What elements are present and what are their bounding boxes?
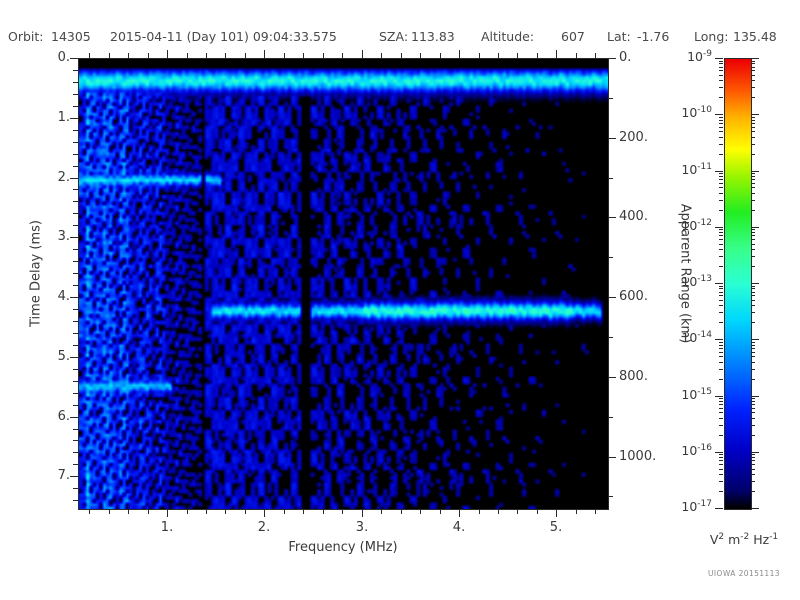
x-minor-tick	[576, 509, 577, 514]
colorbar-minor-tick	[719, 460, 723, 461]
colorbar-minor-tick	[719, 286, 723, 287]
x-minor-tick	[206, 509, 207, 514]
y-minor-tick	[73, 464, 78, 465]
colorbar-minor-tick	[751, 481, 755, 482]
colorbar-minor-tick	[751, 491, 755, 492]
y2-major-tick	[608, 217, 616, 218]
colorbar-minor-tick	[719, 348, 723, 349]
y-tick-label: 2.	[30, 170, 70, 185]
colorbar-minor-tick	[751, 300, 755, 301]
colorbar-minor-tick	[751, 117, 755, 118]
y-minor-tick	[73, 381, 78, 382]
x-major-tick	[459, 509, 460, 517]
colorbar-minor-tick	[751, 345, 755, 346]
colorbar-tick-label: 10-16	[652, 443, 712, 458]
colorbar-minor-tick	[719, 67, 723, 68]
colorbar-minor-tick	[719, 457, 723, 458]
colorbar-minor-tick	[719, 235, 723, 236]
colorbar-minor-tick	[719, 288, 723, 289]
y-minor-tick	[73, 369, 78, 370]
colorbar-major-tick	[751, 58, 759, 59]
colorbar-minor-tick	[719, 491, 723, 492]
x-minor-tick	[323, 509, 324, 514]
y-minor-tick	[73, 440, 78, 441]
colorbar-minor-tick	[719, 379, 723, 380]
colorbar-minor-tick	[719, 295, 723, 296]
x-major-tick	[167, 509, 168, 517]
colorbar-minor-tick	[751, 305, 755, 306]
x-major-tick-top	[459, 50, 460, 58]
colorbar-minor-tick	[751, 144, 755, 145]
colorbar-minor-tick	[719, 144, 723, 145]
colorbar-tick-label: 10-12	[652, 218, 712, 233]
colorbar-minor-tick	[719, 229, 723, 230]
colorbar-tick-label: 10-9	[652, 49, 712, 64]
colorbar-tick-label: 10-10	[652, 105, 712, 120]
colorbar-major-tick	[715, 508, 723, 509]
colorbar-minor-tick	[751, 244, 755, 245]
colorbar-minor-tick	[719, 464, 723, 465]
y-major-tick	[70, 357, 78, 358]
colorbar-minor-tick	[719, 75, 723, 76]
x-minor-tick	[498, 509, 499, 514]
y2-major-tick	[608, 377, 616, 378]
colorbar-minor-tick	[719, 398, 723, 399]
y-major-tick	[70, 297, 78, 298]
colorbar-minor-tick	[751, 200, 755, 201]
colorbar-minor-tick	[751, 210, 755, 211]
y2-minor-tick	[608, 496, 613, 497]
x-minor-tick-top	[576, 53, 577, 58]
colorbar-minor-tick	[751, 408, 755, 409]
x-minor-tick-top	[148, 53, 149, 58]
colorbar-minor-tick	[751, 131, 755, 132]
lat-label: Lat:	[607, 29, 631, 44]
colorbar-minor-tick	[751, 229, 755, 230]
colorbar-minor-tick	[751, 369, 755, 370]
colorbar-minor-tick	[719, 425, 723, 426]
colorbar-minor-tick	[751, 404, 755, 405]
colorbar-major-tick	[715, 339, 723, 340]
x-tick-label: 4.	[439, 520, 479, 535]
colorbar-minor-tick	[751, 435, 755, 436]
colorbar-minor-tick	[719, 97, 723, 98]
colorbar-minor-tick	[751, 187, 755, 188]
x-minor-tick	[109, 509, 110, 514]
x-minor-tick	[479, 509, 480, 514]
x-minor-tick	[595, 509, 596, 514]
colorbar-minor-tick	[751, 379, 755, 380]
colorbar-minor-tick	[751, 469, 755, 470]
colorbar-minor-tick	[719, 173, 723, 174]
colorbar-major-tick	[751, 452, 759, 453]
colorbar	[724, 58, 750, 508]
colorbar-minor-tick	[719, 312, 723, 313]
x-minor-tick	[303, 509, 304, 514]
x-minor-tick-top	[381, 53, 382, 58]
metadata-header: Orbit: 14305 2015-04-11 (Day 101) 09:04:…	[0, 29, 800, 47]
sza-label: SZA:	[379, 29, 408, 44]
colorbar-minor-tick	[719, 266, 723, 267]
x-major-tick	[264, 509, 265, 517]
colorbar-minor-tick	[719, 356, 723, 357]
colorbar-minor-tick	[751, 348, 755, 349]
colorbar-minor-tick	[751, 176, 755, 177]
x-minor-tick	[187, 509, 188, 514]
y2-tick-label: 200.	[619, 130, 673, 145]
colorbar-minor-tick	[751, 123, 755, 124]
ionogram-plot-area	[78, 58, 609, 510]
y2-major-tick	[608, 457, 616, 458]
x-minor-tick	[381, 509, 382, 514]
colorbar-gradient	[724, 58, 752, 510]
y2-major-tick	[608, 138, 616, 139]
colorbar-minor-tick	[719, 292, 723, 293]
x-tick-label: 1.	[147, 520, 187, 535]
colorbar-minor-tick	[719, 481, 723, 482]
x-major-tick-top	[362, 50, 363, 58]
colorbar-minor-tick	[719, 187, 723, 188]
x-major-tick	[362, 509, 363, 517]
x-minor-tick-top	[420, 53, 421, 58]
x-minor-tick-top	[323, 53, 324, 58]
colorbar-minor-tick	[719, 117, 723, 118]
colorbar-minor-tick	[719, 435, 723, 436]
x-minor-tick-top	[342, 53, 343, 58]
colorbar-minor-tick	[719, 249, 723, 250]
y-minor-tick	[73, 106, 78, 107]
x-axis-title: Frequency (MHz)	[0, 540, 686, 555]
colorbar-minor-tick	[719, 369, 723, 370]
colorbar-major-tick	[715, 283, 723, 284]
colorbar-minor-tick	[719, 469, 723, 470]
y-minor-tick	[73, 261, 78, 262]
colorbar-minor-tick	[751, 352, 755, 353]
colorbar-minor-tick	[719, 454, 723, 455]
y-minor-tick	[73, 405, 78, 406]
y-minor-tick	[73, 82, 78, 83]
x-minor-tick-top	[206, 53, 207, 58]
colorbar-minor-tick	[719, 239, 723, 240]
colorbar-minor-tick	[719, 70, 723, 71]
ionogram-page: Orbit: 14305 2015-04-11 (Day 101) 09:04:…	[0, 0, 800, 600]
y-tick-label: 6.	[30, 409, 70, 424]
y-minor-tick	[73, 70, 78, 71]
colorbar-minor-tick	[751, 454, 755, 455]
y-minor-tick	[73, 345, 78, 346]
colorbar-minor-tick	[719, 193, 723, 194]
y-major-tick	[70, 237, 78, 238]
y-minor-tick	[73, 285, 78, 286]
colorbar-minor-tick	[719, 131, 723, 132]
colorbar-minor-tick	[719, 63, 723, 64]
y2-major-tick	[608, 58, 616, 59]
colorbar-unit-label: V2 m-2 Hz-1	[688, 532, 800, 547]
colorbar-minor-tick	[751, 460, 755, 461]
colorbar-minor-tick	[751, 193, 755, 194]
colorbar-major-tick	[751, 396, 759, 397]
x-tick-label: 2.	[244, 520, 284, 535]
colorbar-minor-tick	[719, 183, 723, 184]
long-value: 135.48	[733, 29, 777, 44]
colorbar-minor-tick	[719, 404, 723, 405]
colorbar-minor-tick	[719, 87, 723, 88]
x-minor-tick	[401, 509, 402, 514]
colorbar-minor-tick	[751, 67, 755, 68]
y-minor-tick	[73, 166, 78, 167]
y-minor-tick	[73, 142, 78, 143]
x-tick-label: 5.	[536, 520, 576, 535]
colorbar-minor-tick	[719, 176, 723, 177]
colorbar-major-tick	[715, 171, 723, 172]
colorbar-minor-tick	[719, 322, 723, 323]
x-minor-tick-top	[517, 53, 518, 58]
y-tick-label: 0.	[30, 50, 70, 65]
sza-value: 113.83	[411, 29, 455, 44]
y-minor-tick	[73, 393, 78, 394]
y2-minor-tick	[608, 178, 613, 179]
y-tick-label: 1.	[30, 110, 70, 125]
y-minor-tick	[73, 500, 78, 501]
x-minor-tick-top	[109, 53, 110, 58]
altitude-value: 607	[561, 29, 585, 44]
source-watermark: UIOWA 20151113	[690, 569, 798, 578]
colorbar-minor-tick	[719, 305, 723, 306]
x-minor-tick-top	[440, 53, 441, 58]
y-minor-tick	[73, 189, 78, 190]
colorbar-minor-tick	[751, 75, 755, 76]
x-minor-tick-top	[89, 53, 90, 58]
observation-datetime: 2015-04-11 (Day 101) 09:04:33.575	[110, 29, 337, 44]
y2-minor-tick	[608, 98, 613, 99]
y2-tick-label: 600.	[619, 289, 673, 304]
colorbar-minor-tick	[751, 249, 755, 250]
colorbar-major-tick	[751, 171, 759, 172]
colorbar-major-tick	[715, 58, 723, 59]
colorbar-tick-label: 10-15	[652, 387, 712, 402]
colorbar-minor-tick	[719, 300, 723, 301]
x-minor-tick	[440, 509, 441, 514]
colorbar-minor-tick	[719, 352, 723, 353]
colorbar-minor-tick	[751, 286, 755, 287]
y-minor-tick	[73, 333, 78, 334]
y-minor-tick	[73, 201, 78, 202]
orbit-value: 14305	[51, 29, 91, 44]
x-minor-tick	[420, 509, 421, 514]
orbit-label: Orbit:	[8, 29, 44, 44]
y-minor-tick	[73, 154, 78, 155]
colorbar-major-tick	[715, 452, 723, 453]
colorbar-minor-tick	[751, 401, 755, 402]
colorbar-minor-tick	[719, 232, 723, 233]
colorbar-minor-tick	[751, 356, 755, 357]
x-minor-tick	[342, 509, 343, 514]
colorbar-minor-tick	[719, 345, 723, 346]
colorbar-minor-tick	[719, 474, 723, 475]
lat-value: -1.76	[637, 29, 669, 44]
x-major-tick-top	[264, 50, 265, 58]
colorbar-minor-tick	[751, 127, 755, 128]
colorbar-tick-label: 10-13	[652, 274, 712, 289]
colorbar-minor-tick	[751, 239, 755, 240]
y2-minor-tick	[608, 417, 613, 418]
colorbar-minor-tick	[751, 87, 755, 88]
x-minor-tick-top	[537, 53, 538, 58]
colorbar-minor-tick	[751, 137, 755, 138]
colorbar-major-tick	[715, 114, 723, 115]
colorbar-minor-tick	[719, 342, 723, 343]
spectrogram-heatmap	[79, 59, 608, 509]
colorbar-minor-tick	[751, 235, 755, 236]
colorbar-minor-tick	[719, 362, 723, 363]
x-minor-tick-top	[187, 53, 188, 58]
colorbar-minor-tick	[751, 256, 755, 257]
x-minor-tick-top	[498, 53, 499, 58]
colorbar-minor-tick	[751, 179, 755, 180]
y-minor-tick	[73, 213, 78, 214]
y-minor-tick	[73, 321, 78, 322]
colorbar-minor-tick	[719, 80, 723, 81]
x-minor-tick	[89, 509, 90, 514]
x-minor-tick	[537, 509, 538, 514]
colorbar-minor-tick	[751, 322, 755, 323]
colorbar-minor-tick	[751, 342, 755, 343]
altitude-label: Altitude:	[481, 29, 534, 44]
y-minor-tick	[73, 309, 78, 310]
colorbar-minor-tick	[751, 80, 755, 81]
colorbar-minor-tick	[751, 412, 755, 413]
long-label: Long:	[694, 29, 728, 44]
colorbar-minor-tick	[751, 474, 755, 475]
y-minor-tick	[73, 452, 78, 453]
y-minor-tick	[73, 249, 78, 250]
colorbar-minor-tick	[719, 123, 723, 124]
colorbar-minor-tick	[719, 200, 723, 201]
colorbar-minor-tick	[751, 362, 755, 363]
colorbar-minor-tick	[751, 457, 755, 458]
colorbar-minor-tick	[719, 418, 723, 419]
x-minor-tick-top	[128, 53, 129, 58]
colorbar-minor-tick	[751, 464, 755, 465]
y-major-tick	[70, 118, 78, 119]
y-tick-label: 7.	[30, 468, 70, 483]
y-minor-tick	[73, 488, 78, 489]
x-minor-tick	[245, 509, 246, 514]
colorbar-major-tick	[751, 227, 759, 228]
y2-tick-label: 800.	[619, 369, 673, 384]
colorbar-minor-tick	[751, 425, 755, 426]
colorbar-minor-tick	[719, 120, 723, 121]
colorbar-tick-label: 10-14	[652, 330, 712, 345]
x-major-tick	[556, 509, 557, 517]
y-major-tick	[70, 476, 78, 477]
colorbar-minor-tick	[751, 70, 755, 71]
y-minor-tick	[73, 94, 78, 95]
colorbar-major-tick	[751, 339, 759, 340]
colorbar-minor-tick	[719, 137, 723, 138]
y2-minor-tick	[608, 337, 613, 338]
x-minor-tick	[225, 509, 226, 514]
colorbar-minor-tick	[719, 154, 723, 155]
colorbar-minor-tick	[719, 256, 723, 257]
colorbar-minor-tick	[751, 63, 755, 64]
colorbar-minor-tick	[751, 120, 755, 121]
y-major-tick	[70, 417, 78, 418]
colorbar-minor-tick	[751, 154, 755, 155]
x-tick-label: 3.	[342, 520, 382, 535]
x-minor-tick	[128, 509, 129, 514]
y-axis-left-title: Time Delay (ms)	[29, 194, 44, 354]
y-minor-tick	[73, 429, 78, 430]
x-major-tick-top	[556, 50, 557, 58]
x-minor-tick	[148, 509, 149, 514]
x-minor-tick-top	[225, 53, 226, 58]
colorbar-minor-tick	[719, 244, 723, 245]
colorbar-minor-tick	[719, 408, 723, 409]
colorbar-minor-tick	[719, 412, 723, 413]
colorbar-minor-tick	[751, 173, 755, 174]
colorbar-minor-tick	[751, 183, 755, 184]
colorbar-minor-tick	[719, 179, 723, 180]
colorbar-major-tick	[751, 114, 759, 115]
x-minor-tick-top	[284, 53, 285, 58]
colorbar-major-tick	[715, 227, 723, 228]
x-minor-tick-top	[479, 53, 480, 58]
colorbar-minor-tick	[751, 266, 755, 267]
y-minor-tick	[73, 273, 78, 274]
colorbar-minor-tick	[751, 288, 755, 289]
x-minor-tick	[284, 509, 285, 514]
y-minor-tick	[73, 225, 78, 226]
colorbar-minor-tick	[719, 210, 723, 211]
colorbar-major-tick	[715, 396, 723, 397]
colorbar-tick-label: 10-11	[652, 162, 712, 177]
colorbar-tick-label: 10-17	[652, 499, 712, 514]
x-minor-tick-top	[303, 53, 304, 58]
colorbar-major-tick	[751, 283, 759, 284]
colorbar-minor-tick	[719, 401, 723, 402]
colorbar-minor-tick	[751, 295, 755, 296]
colorbar-minor-tick	[719, 127, 723, 128]
colorbar-minor-tick	[751, 232, 755, 233]
colorbar-minor-tick	[751, 398, 755, 399]
colorbar-minor-tick	[719, 61, 723, 62]
colorbar-minor-tick	[751, 97, 755, 98]
colorbar-minor-tick	[751, 292, 755, 293]
x-major-tick-top	[167, 50, 168, 58]
y-major-tick	[70, 178, 78, 179]
y2-major-tick	[608, 297, 616, 298]
x-minor-tick-top	[595, 53, 596, 58]
colorbar-minor-tick	[751, 312, 755, 313]
y-major-tick	[70, 58, 78, 59]
colorbar-minor-tick	[751, 61, 755, 62]
x-minor-tick-top	[245, 53, 246, 58]
x-minor-tick-top	[401, 53, 402, 58]
y-minor-tick	[73, 130, 78, 131]
y2-minor-tick	[608, 257, 613, 258]
colorbar-major-tick	[751, 508, 759, 509]
colorbar-minor-tick	[751, 418, 755, 419]
x-minor-tick	[517, 509, 518, 514]
